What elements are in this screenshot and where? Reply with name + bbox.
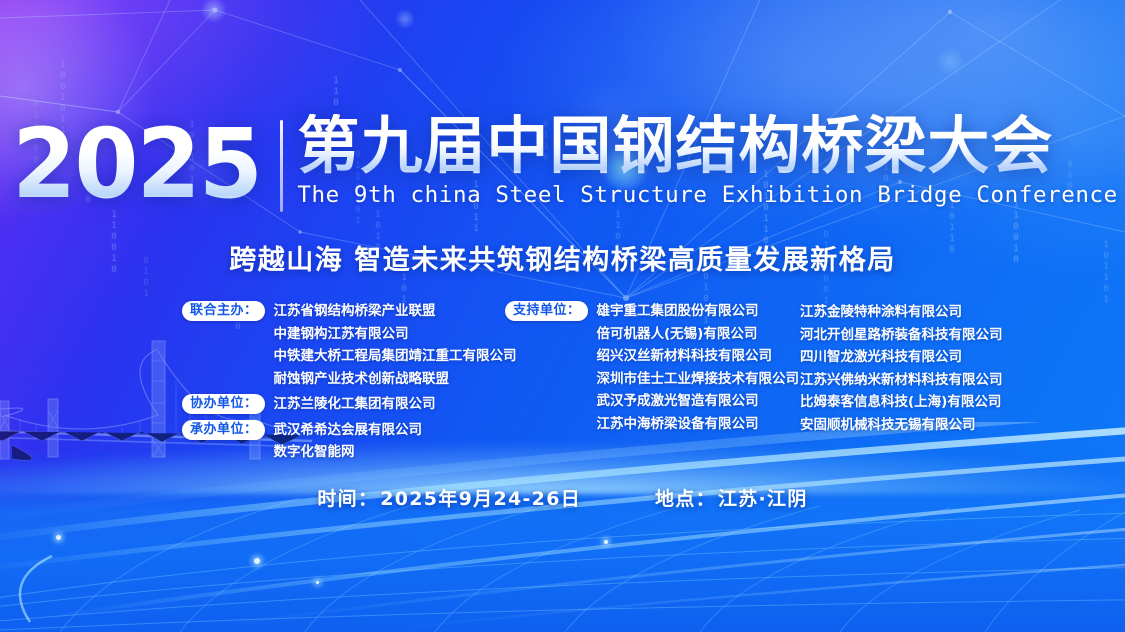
organizer-items: 武汉希希达会展有限公司 数字化智能网 [274, 419, 423, 464]
organizer-label-pill: 协办单位： [182, 394, 265, 414]
supporter-item: 倍可机器人(无锡)有限公司 [597, 323, 800, 346]
organizer-item: 耐蚀钢产业技术创新战略联盟 [274, 368, 517, 391]
supporter-item: 四川智龙激光科技有限公司 [800, 346, 1120, 369]
supporter-item: 深圳市佳士工业焊接技术有限公司 [597, 368, 800, 391]
title-divider [280, 120, 283, 212]
organizer-item: 江苏省钢结构桥梁产业联盟 [274, 300, 517, 323]
supporter-item: 绍兴汉丝新材料科技有限公司 [597, 345, 800, 368]
conference-banner: 0101001100101101011011001001011011010100… [0, 0, 1125, 632]
supporter-items: 雄宇重工集团股份有限公司 倍可机器人(无锡)有限公司 绍兴汉丝新材料科技有限公司… [597, 300, 800, 435]
organizer-items: 江苏省钢结构桥梁产业联盟 中建钢构江苏有限公司 中铁建大桥工程局集团靖江重工有限… [274, 300, 517, 390]
supporter-item: 江苏兴佛纳米新材料科技有限公司 [800, 369, 1120, 392]
supporter-item: 雄宇重工集团股份有限公司 [597, 300, 800, 323]
organizers-section: 联合主办： 江苏省钢结构桥梁产业联盟 中建钢构江苏有限公司 中铁建大桥工程局集团… [0, 300, 1125, 465]
organizers-column-right: 江苏金陵特种涂料有限公司 河北开创星路桥装备科技有限公司 四川智龙激光科技有限公… [800, 300, 1120, 436]
organizers-column-left: 联合主办： 江苏省钢结构桥梁产业联盟 中建钢构江苏有限公司 中铁建大桥工程局集团… [182, 300, 512, 467]
conference-slogan: 跨越山海 智造未来共筑钢结构桥梁高质量发展新格局 [0, 238, 1125, 277]
conference-title-en: The 9th china Steel Structure Exhibition… [297, 182, 1117, 208]
event-date: 时间：2025年9月24-26日 [317, 484, 581, 511]
event-location-label: 地点： [655, 488, 716, 510]
organizer-items: 江苏兰陵化工集团有限公司 [274, 393, 436, 416]
supporter-item: 安固顺机械科技无锡有限公司 [800, 414, 1120, 437]
organizer-group: 协办单位： 江苏兰陵化工集团有限公司 [182, 393, 512, 416]
event-date-label: 时间： [317, 488, 378, 510]
supporter-item: 河北开创星路桥装备科技有限公司 [800, 324, 1120, 347]
banner-content: 2025 第九届中国钢结构桥梁大会 The 9th china Steel St… [0, 0, 1125, 632]
conference-title-cn: 第九届中国钢结构桥梁大会 [297, 114, 1117, 177]
organizer-group: 承办单位： 武汉希希达会展有限公司 数字化智能网 [182, 419, 512, 464]
organizer-item: 中建钢构江苏有限公司 [274, 323, 517, 346]
organizer-label-pill: 联合主办： [182, 301, 265, 321]
supporter-item: 比姆泰客信息科技(上海)有限公司 [800, 391, 1120, 414]
organizers-column-middle: 支持单位： 雄宇重工集团股份有限公司 倍可机器人(无锡)有限公司 绍兴汉丝新材料… [505, 300, 805, 438]
supporter-item: 江苏中海桥梁设备有限公司 [597, 413, 800, 436]
supporter-item: 江苏金陵特种涂料有限公司 [800, 301, 1120, 324]
organizer-label-pill: 承办单位： [182, 420, 265, 440]
supporter-label-pill: 支持单位： [505, 301, 588, 321]
year-2025: 2025 [12, 114, 261, 208]
organizer-item: 武汉希希达会展有限公司 [274, 419, 423, 442]
organizer-item: 江苏兰陵化工集团有限公司 [274, 393, 436, 416]
event-location: 地点：江苏·江阴 [655, 484, 808, 511]
event-location-value: 江苏·江阴 [718, 488, 808, 510]
organizer-group: 联合主办： 江苏省钢结构桥梁产业联盟 中建钢构江苏有限公司 中铁建大桥工程局集团… [182, 300, 512, 390]
event-details-footer: 时间：2025年9月24-26日 地点：江苏·江阴 [0, 484, 1125, 511]
supporter-item: 武汉予成激光智造有限公司 [597, 390, 800, 413]
title-block: 2025 第九届中国钢结构桥梁大会 The 9th china Steel St… [0, 114, 1125, 212]
organizer-item: 中铁建大桥工程局集团靖江重工有限公司 [274, 345, 517, 368]
organizer-item: 数字化智能网 [274, 441, 423, 464]
event-date-value: 2025年9月24-26日 [380, 488, 581, 510]
supporter-group: 支持单位： 雄宇重工集团股份有限公司 倍可机器人(无锡)有限公司 绍兴汉丝新材料… [505, 300, 805, 435]
